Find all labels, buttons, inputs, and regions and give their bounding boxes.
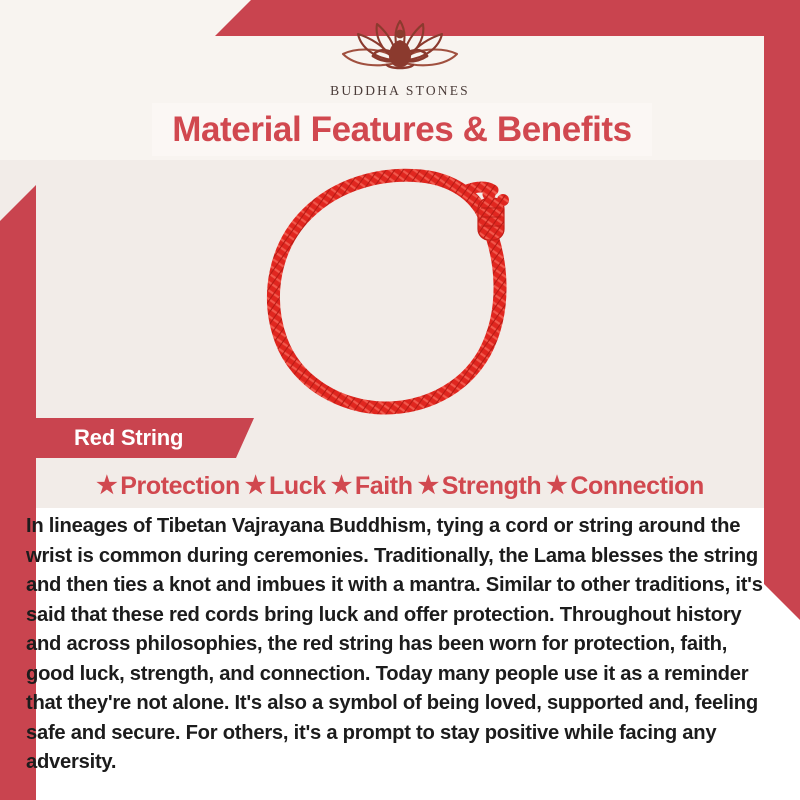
benefit-label: Protection [120,472,240,501]
benefit-label: Faith [355,472,413,501]
benefit-item-protection: ★ Protection [96,472,240,501]
section-ribbon-label: Red String [36,425,183,451]
brand-header: BUDDHA STONES [0,18,800,99]
benefit-item-strength: ★ Strength [418,472,542,501]
star-icon: ★ [245,474,266,498]
star-icon: ★ [96,474,117,498]
description-paragraph: In lineages of Tibetan Vajrayana Buddhis… [26,512,772,778]
red-braided-string-bracelet-icon [235,160,565,420]
brand-name: BUDDHA STONES [330,83,470,99]
star-icon: ★ [418,474,439,498]
infographic-card: BUDDHA STONES Material Features & Benefi… [0,0,800,800]
benefit-item-connection: ★ Connection [546,472,704,501]
section-ribbon: Red String [36,418,254,458]
benefit-item-faith: ★ Faith [331,472,413,501]
lotus-meditation-icon [325,18,475,80]
page-title: Material Features & Benefits [172,110,632,150]
benefit-label: Connection [570,472,704,501]
product-image [0,160,800,420]
benefit-label: Luck [269,472,326,501]
star-icon: ★ [546,474,567,498]
title-banner: Material Features & Benefits [152,103,652,156]
star-icon: ★ [331,474,352,498]
benefit-item-luck: ★ Luck [245,472,326,501]
benefit-label: Strength [442,472,542,501]
benefits-list: ★ Protection ★ Luck ★ Faith ★ Strength ★… [36,466,764,506]
